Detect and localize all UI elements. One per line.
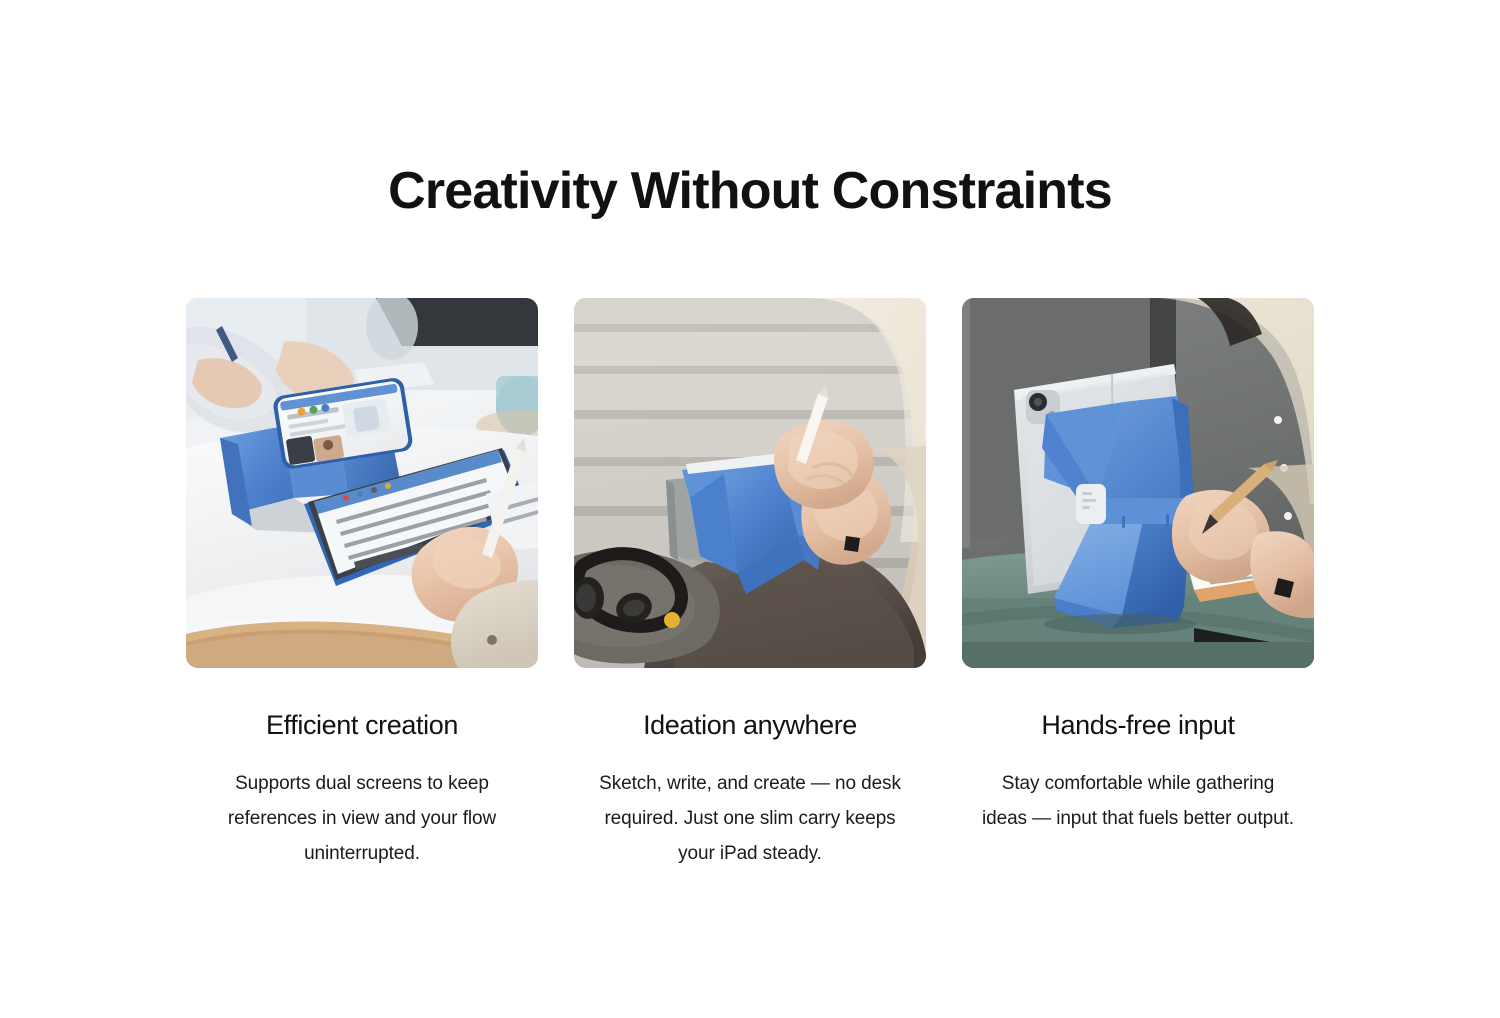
photo-illustration <box>186 298 538 668</box>
feature-card: Ideation anywhere Sketch, write, and cre… <box>574 298 926 871</box>
card-description: Stay comfortable while gathering ideas —… <box>978 766 1298 836</box>
efficient-creation-photo <box>186 298 538 668</box>
feature-card: Hands-free input Stay comfortable while … <box>962 298 1314 871</box>
photo-illustration <box>574 298 926 668</box>
feature-card-grid: Efficient creation Supports dual screens… <box>186 298 1314 871</box>
feature-card: Efficient creation Supports dual screens… <box>186 298 538 871</box>
card-description: Sketch, write, and create — no desk requ… <box>590 766 910 871</box>
card-title: Hands-free input <box>1041 708 1234 742</box>
feature-section: Creativity Without Constraints <box>0 0 1500 1018</box>
card-title: Ideation anywhere <box>643 708 857 742</box>
hands-free-input-photo <box>962 298 1314 668</box>
card-title: Efficient creation <box>266 708 458 742</box>
page-title: Creativity Without Constraints <box>0 160 1500 222</box>
photo-illustration <box>962 298 1314 668</box>
ideation-anywhere-photo <box>574 298 926 668</box>
card-description: Supports dual screens to keep references… <box>202 766 522 871</box>
